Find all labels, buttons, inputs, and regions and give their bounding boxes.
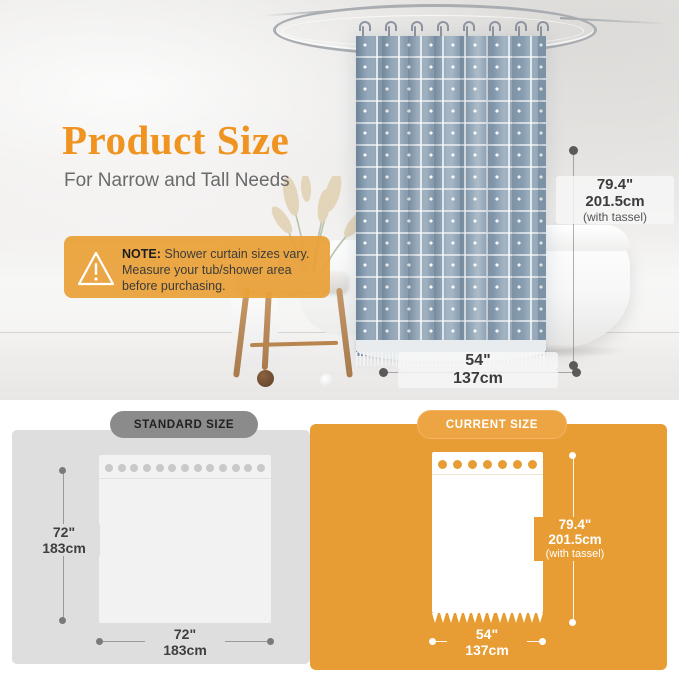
hero-height-qualifier: (with tassel): [556, 210, 674, 224]
pinecone-decor: [257, 370, 274, 387]
tassel-icon: [432, 613, 438, 623]
hero-width-cap-right: [572, 368, 581, 377]
hero-width-cap-left: [379, 368, 388, 377]
current-height-cap-bottom: [569, 619, 576, 626]
hero-height-label: 79.4" 201.5cm (with tassel): [556, 176, 674, 224]
grommet-icon: [438, 460, 447, 469]
current-height-label: 79.4" 201.5cm (with tassel): [534, 517, 616, 561]
grommet-icon: [468, 460, 477, 469]
page-title: Product Size: [62, 116, 289, 164]
tassel-icon: [497, 613, 503, 623]
standard-height-label: 72" 183cm: [28, 524, 100, 556]
current-width-inches: 54": [447, 626, 527, 642]
grommet-icon: [206, 464, 214, 472]
page-subtitle: For Narrow and Tall Needs: [64, 170, 290, 192]
hero-width-label: 54" 137cm: [398, 352, 558, 388]
grommet-icon: [130, 464, 138, 472]
curtain-folds: [356, 36, 546, 356]
tassel-icon: [456, 613, 462, 623]
current-width-cm: 137cm: [447, 642, 527, 658]
standard-width-cap-right: [267, 638, 274, 645]
grommet-icon: [244, 464, 252, 472]
tassel-icon: [440, 613, 446, 623]
tassel-icon: [521, 613, 527, 623]
grommet-icon: [513, 460, 522, 469]
note-label: NOTE:: [122, 247, 161, 261]
current-curtain-illustration: [432, 452, 543, 613]
standard-width-label: 72" 183cm: [145, 626, 225, 658]
grommet-icon: [181, 464, 189, 472]
current-tassel-fringe: [432, 613, 543, 623]
product-size-infographic: Product Size For Narrow and Tall Needs N…: [0, 0, 679, 679]
standard-height-cm: 183cm: [28, 540, 100, 556]
standard-grommet-row: [105, 463, 265, 473]
current-curtain-header-line: [432, 474, 543, 475]
tab-current-size[interactable]: CURRENT SIZE: [417, 410, 567, 439]
standard-height-inches: 72": [28, 524, 100, 540]
warning-triangle-icon: [76, 250, 116, 288]
current-height-cap-top: [569, 452, 576, 459]
tassel-icon: [529, 613, 535, 623]
grommet-icon: [168, 464, 176, 472]
grommet-icon: [483, 460, 492, 469]
grommet-icon: [143, 464, 151, 472]
hero-height-inches: 79.4": [556, 176, 674, 193]
standard-height-cap-bottom: [59, 617, 66, 624]
hero-width-inches: 54": [398, 352, 558, 370]
hero-height-cap-top: [569, 146, 578, 155]
grommet-icon: [453, 460, 462, 469]
tab-standard-size[interactable]: STANDARD SIZE: [110, 411, 258, 438]
tassel-icon: [480, 613, 486, 623]
grommet-icon: [257, 464, 265, 472]
tassel-icon: [472, 613, 478, 623]
note-callout: NOTE: Shower curtain sizes vary. Measure…: [64, 236, 330, 298]
white-ball-decor: [320, 374, 334, 388]
tab-current-size-label: CURRENT SIZE: [446, 419, 538, 431]
current-height-cm: 201.5cm: [534, 532, 616, 547]
hero-bathroom-photo: Product Size For Narrow and Tall Needs N…: [0, 0, 679, 400]
tassel-icon: [464, 613, 470, 623]
grommet-icon: [105, 464, 113, 472]
hero-width-cm: 137cm: [398, 370, 558, 388]
standard-height-cap-top: [59, 467, 66, 474]
tassel-icon: [505, 613, 511, 623]
grommet-icon: [156, 464, 164, 472]
grommet-icon: [528, 460, 537, 469]
hero-height-cm: 201.5cm: [556, 193, 674, 210]
tassel-icon: [537, 613, 543, 623]
tassel-icon: [488, 613, 494, 623]
note-text: NOTE: Shower curtain sizes vary. Measure…: [122, 246, 322, 294]
grommet-icon: [219, 464, 227, 472]
standard-width-cap-left: [96, 638, 103, 645]
tassel-icon: [513, 613, 519, 623]
current-width-cap-left: [429, 638, 436, 645]
grommet-icon: [118, 464, 126, 472]
current-height-inches: 79.4": [534, 517, 616, 532]
current-grommet-row: [438, 459, 537, 469]
grommet-icon: [498, 460, 507, 469]
current-width-cap-right: [539, 638, 546, 645]
standard-curtain-header-line: [99, 478, 271, 479]
shower-curtain-photo: [356, 36, 546, 356]
standard-curtain-illustration: [99, 455, 271, 623]
standard-width-inches: 72": [145, 626, 225, 642]
grommet-icon: [232, 464, 240, 472]
tassel-icon: [448, 613, 454, 623]
tab-standard-size-label: STANDARD SIZE: [134, 419, 234, 431]
grommet-icon: [194, 464, 202, 472]
current-height-qualifier: (with tassel): [534, 547, 616, 561]
current-width-label: 54" 137cm: [447, 626, 527, 658]
standard-width-cm: 183cm: [145, 642, 225, 658]
